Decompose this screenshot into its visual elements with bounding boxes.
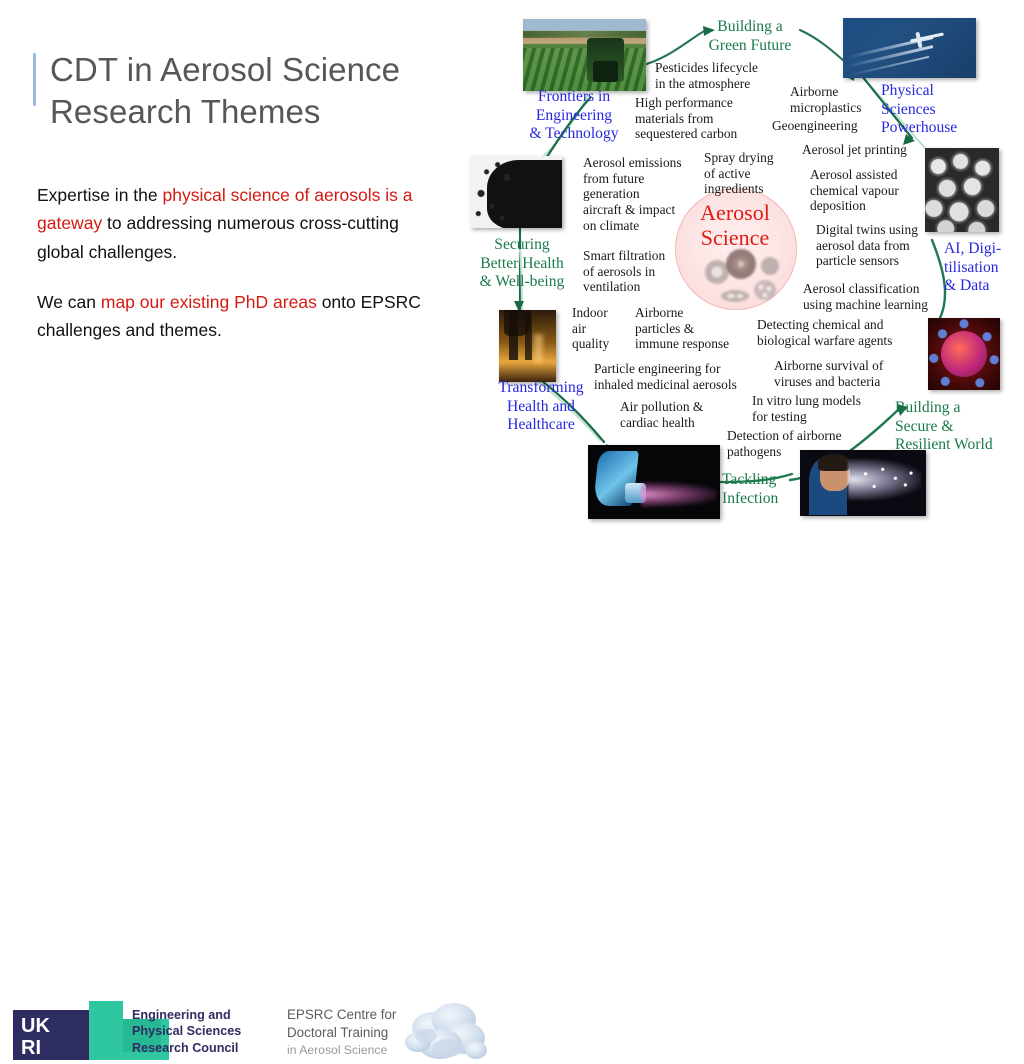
- topic-line: of active: [704, 166, 792, 182]
- topic-line: Aerosol classification: [803, 281, 951, 297]
- topic-line: quality: [572, 336, 626, 352]
- theme-line: Health and: [484, 398, 598, 417]
- theme-building-green-future[interactable]: Building a Green Future: [695, 18, 805, 55]
- epsrc-line-2: Physical Sciences: [132, 1023, 282, 1039]
- topic-line: Airborne survival of: [774, 358, 906, 374]
- topic-line: Airborne: [790, 84, 880, 100]
- epsrc-line-3: Research Council: [132, 1040, 282, 1056]
- topic-line: of aerosols in: [583, 264, 687, 280]
- topic-high-performance-materials: High performance materials from sequeste…: [635, 95, 765, 142]
- topic-air-pollution-cardiac: Air pollution & cardiac health: [620, 399, 730, 430]
- topic-detecting-warfare-agents: Detecting chemical and biological warfar…: [757, 317, 909, 348]
- theme-line: Securing: [464, 236, 580, 255]
- virus-render-photo: [928, 318, 1000, 390]
- topic-line: pathogens: [727, 444, 863, 460]
- topic-geoengineering: Geoengineering: [772, 118, 882, 134]
- theme-line: Frontiers in: [521, 88, 627, 107]
- cloud-icon: [402, 998, 488, 1064]
- theme-line: Transforming: [484, 379, 598, 398]
- topic-line: in the atmosphere: [655, 76, 791, 92]
- theme-line: Green Future: [695, 37, 805, 56]
- aircraft-contrails-photo: [843, 18, 976, 78]
- topic-line: generation: [583, 186, 695, 202]
- topic-line: Pesticides lifecycle: [655, 60, 791, 76]
- topic-line: deposition: [810, 198, 928, 214]
- topic-line: High performance: [635, 95, 765, 111]
- svg-text:UK: UK: [21, 1015, 50, 1037]
- topic-line: Indoor: [572, 305, 626, 321]
- topic-line: cardiac health: [620, 415, 730, 431]
- theme-line: Physical: [881, 82, 993, 101]
- topic-line: Aerosol assisted: [810, 167, 928, 183]
- topic-line: microplastics: [790, 100, 880, 116]
- topic-line: aircraft & impact: [583, 202, 695, 218]
- theme-line: & Well-being: [464, 273, 580, 292]
- topic-airborne-particles-immune: Airborne particles & immune response: [635, 305, 759, 352]
- theme-line: AI, Digi-: [944, 240, 1024, 259]
- topic-line: biological warfare agents: [757, 333, 909, 349]
- ukri-logo-wordmark: UK RI: [13, 1010, 89, 1060]
- topic-line: particle sensors: [816, 253, 936, 269]
- topic-aerosol-assisted-cvd: Aerosol assisted chemical vapour deposit…: [810, 167, 928, 214]
- theme-line: Secure &: [895, 418, 1024, 437]
- slide-canvas: CDT in Aerosol Science Research Themes E…: [0, 0, 1024, 576]
- topic-indoor-air-quality: Indoor air quality: [572, 305, 626, 352]
- topic-digital-twins: Digital twins using aerosol data from pa…: [816, 222, 936, 269]
- theme-line: Building a: [695, 18, 805, 37]
- topic-line: viruses and bacteria: [774, 374, 906, 390]
- theme-line: Better Health: [464, 255, 580, 274]
- research-themes-diagram: Aerosol Science Frontiers in Engineering…: [0, 0, 1024, 576]
- theme-line: Resilient World: [895, 436, 1024, 455]
- topic-line: sequestered carbon: [635, 126, 765, 142]
- svg-text:RI: RI: [21, 1037, 41, 1059]
- tractor-crop-spraying-photo: [523, 19, 646, 91]
- theme-frontiers-engineering-technology[interactable]: Frontiers in Engineering & Technology: [521, 88, 627, 144]
- theme-line: tilisation: [944, 259, 1024, 278]
- topic-aerosol-jet-printing: Aerosol jet printing: [802, 142, 930, 158]
- topic-line: Aerosol jet printing: [802, 142, 930, 158]
- soot-particles-photo: [470, 156, 562, 228]
- theme-ai-digitilisation-data[interactable]: AI, Digi- tilisation & Data: [944, 240, 1024, 296]
- theme-building-secure-resilient-world[interactable]: Building a Secure & Resilient World: [895, 399, 1024, 455]
- topic-line: Detection of airborne: [727, 428, 863, 444]
- topic-line: for testing: [752, 409, 884, 425]
- theme-transforming-health-healthcare[interactable]: Transforming Health and Healthcare: [484, 379, 598, 435]
- topic-in-vitro-lung-models: In vitro lung models for testing: [752, 393, 884, 424]
- topic-line: from future: [583, 171, 695, 187]
- topic-aerosol-classification-ml: Aerosol classification using machine lea…: [803, 281, 951, 312]
- topic-line: chemical vapour: [810, 183, 928, 199]
- topic-line: on climate: [583, 218, 695, 234]
- theme-line: Sciences: [881, 101, 993, 120]
- topic-line: ingredients: [704, 181, 792, 197]
- microspheres-sem-photo: [925, 148, 999, 232]
- topic-line: Airborne: [635, 305, 759, 321]
- topic-line: using machine learning: [803, 297, 951, 313]
- theme-line: Powerhouse: [881, 119, 993, 138]
- topic-airborne-survival-viruses: Airborne survival of viruses and bacteri…: [774, 358, 906, 389]
- theme-securing-better-health-wellbeing[interactable]: Securing Better Health & Well-being: [464, 236, 580, 292]
- topic-line: immune response: [635, 336, 759, 352]
- topic-line: Particle engineering for: [594, 361, 754, 377]
- topic-pesticides-lifecycle: Pesticides lifecycle in the atmosphere: [655, 60, 791, 91]
- topic-particle-engineering-inhaled: Particle engineering for inhaled medicin…: [594, 361, 754, 392]
- topic-line: particles &: [635, 321, 759, 337]
- theme-line: & Data: [944, 277, 1024, 296]
- topic-line: Aerosol emissions: [583, 155, 695, 171]
- topic-smart-filtration: Smart filtration of aerosols in ventilat…: [583, 248, 687, 295]
- topic-aerosol-emissions-aircraft: Aerosol emissions from future generation…: [583, 155, 695, 233]
- theme-line: & Technology: [521, 125, 627, 144]
- slide-footer: UK RI Engineering and Physical Sciences …: [0, 494, 1024, 576]
- topic-spray-drying: Spray drying of active ingredients: [704, 150, 792, 197]
- topic-line: materials from: [635, 111, 765, 127]
- topic-line: air: [572, 321, 626, 337]
- topic-line: Air pollution &: [620, 399, 730, 415]
- topic-line: ventilation: [583, 279, 687, 295]
- topic-line: aerosol data from: [816, 238, 936, 254]
- theme-line: Building a: [895, 399, 1024, 418]
- topic-line: Detecting chemical and: [757, 317, 909, 333]
- topic-airborne-microplastics: Airborne microplastics: [790, 84, 880, 115]
- theme-line: Tackling: [722, 471, 806, 490]
- ukri-letters-icon: UK RI: [13, 1010, 89, 1060]
- topic-line: Smart filtration: [583, 248, 687, 264]
- smokestack-pollution-photo: [499, 310, 556, 382]
- theme-physical-sciences-powerhouse[interactable]: Physical Sciences Powerhouse: [881, 82, 993, 138]
- topic-line: Digital twins using: [816, 222, 936, 238]
- topic-detection-airborne-pathogens: Detection of airborne pathogens: [727, 428, 863, 459]
- topic-line: Spray drying: [704, 150, 792, 166]
- theme-line: Healthcare: [484, 416, 598, 435]
- topic-line: Geoengineering: [772, 118, 882, 134]
- topic-line: In vitro lung models: [752, 393, 884, 409]
- epsrc-line-1: Engineering and: [132, 1007, 282, 1023]
- topic-line: inhaled medicinal aerosols: [594, 377, 754, 393]
- theme-line: Engineering: [521, 107, 627, 126]
- epsrc-wordmark: Engineering and Physical Sciences Resear…: [132, 1007, 282, 1056]
